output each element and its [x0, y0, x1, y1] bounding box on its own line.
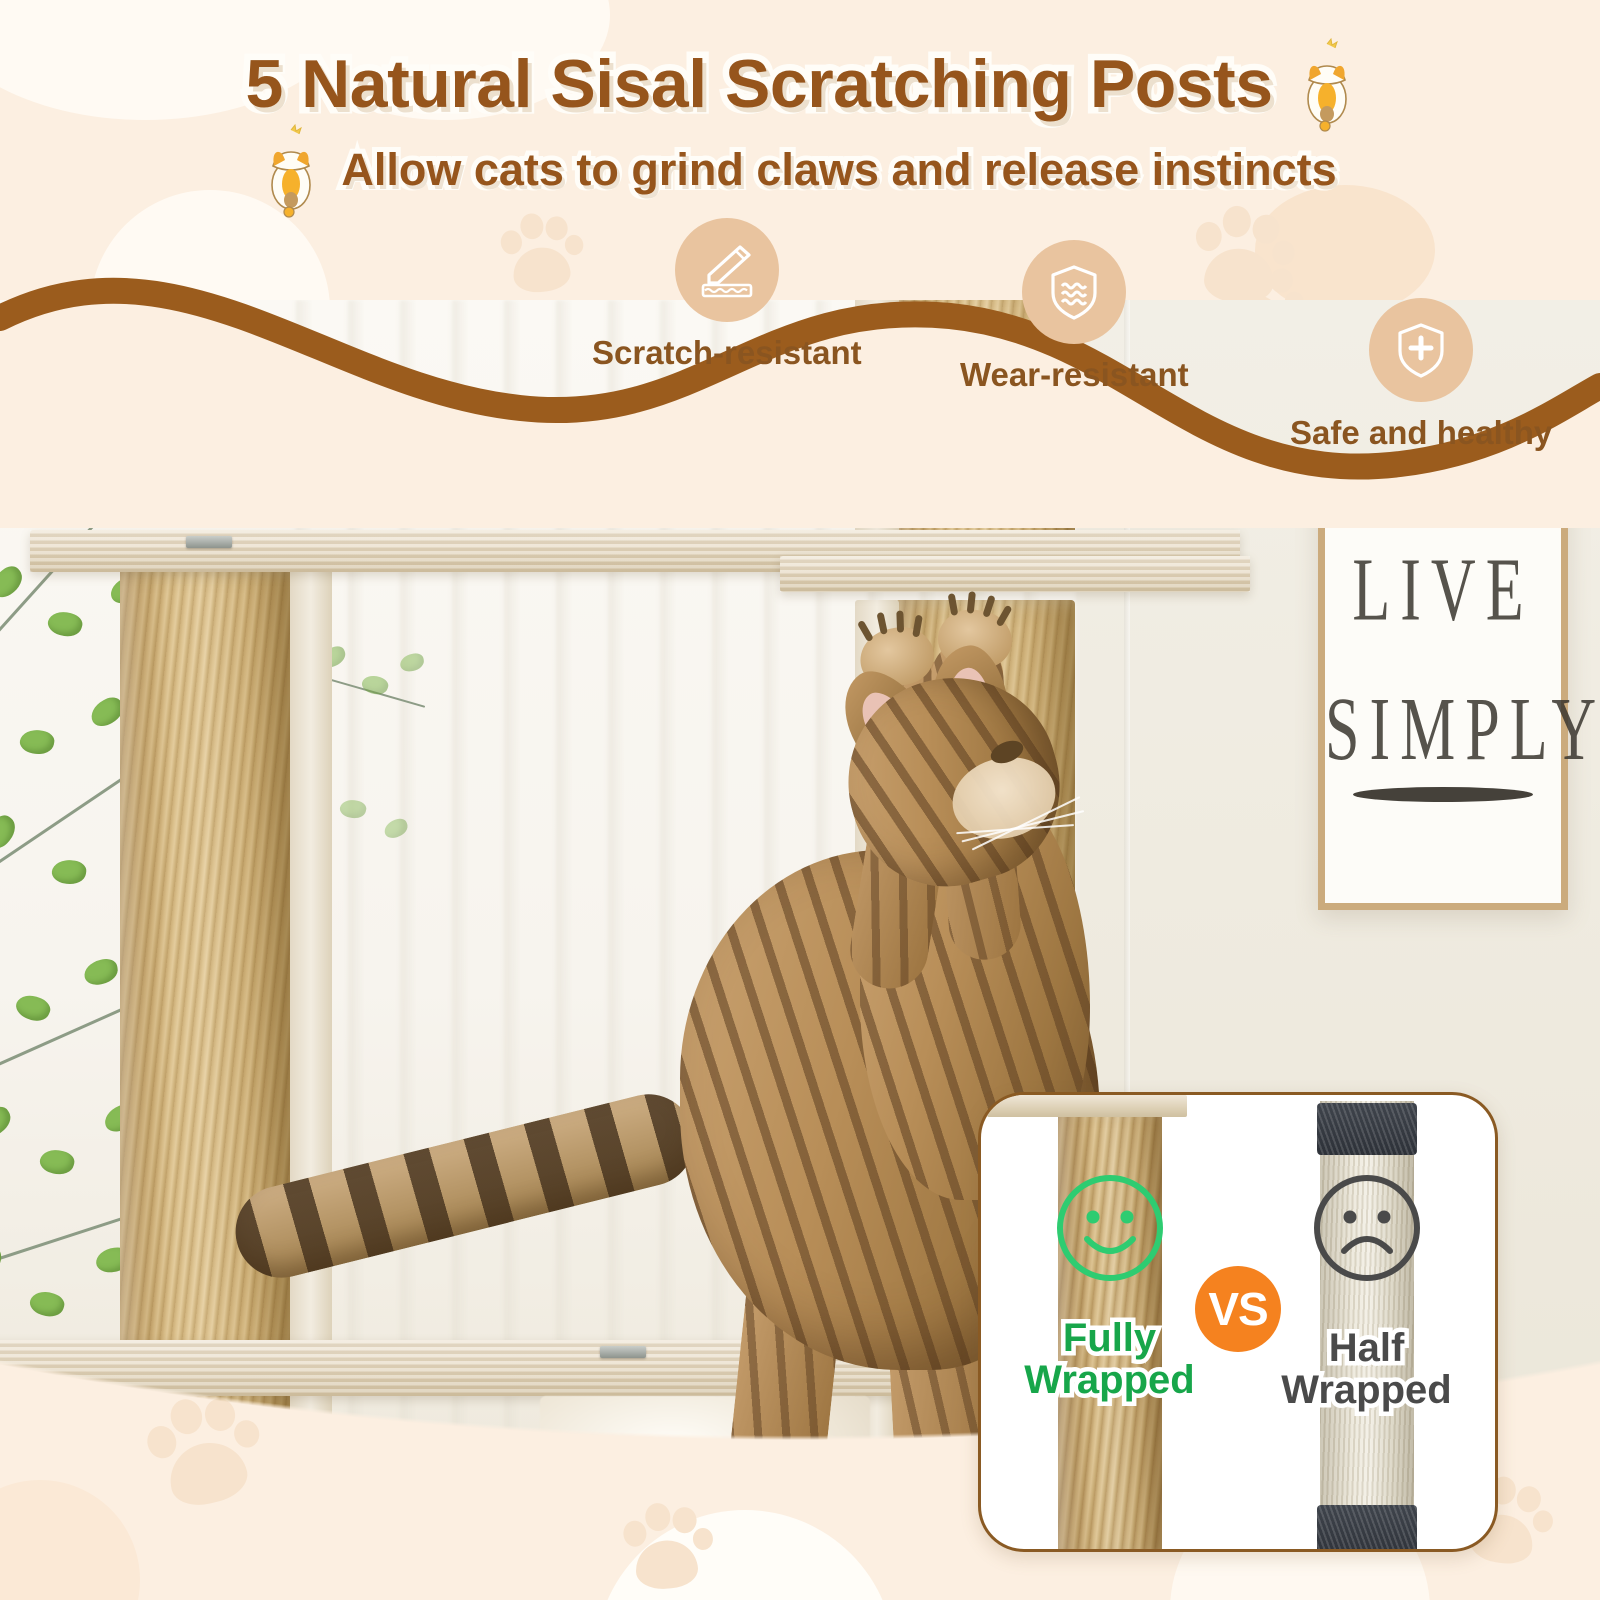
feature-scratch-resistant: Scratch-resistant: [592, 218, 862, 372]
feature-icon-circle: [1369, 298, 1473, 402]
feature-wear-resistant: Wear-resistant: [960, 240, 1189, 394]
cartoon-cat-icon: [263, 122, 319, 218]
wall-art-line-2: SIMPLY: [1325, 660, 1561, 799]
feature-label: Scratch-resistant: [592, 334, 862, 372]
feature-label: Wear-resistant: [960, 356, 1189, 394]
wall-art-frame: LIVE SIMPLY: [1318, 480, 1568, 910]
cartoon-cat-icon: [1299, 36, 1355, 132]
plush-cap-top: [1317, 1103, 1417, 1155]
smiley-face-icon: [1051, 1169, 1169, 1287]
comparison-card: Fully Wrapped Half Wrapped VS: [978, 1092, 1498, 1552]
wall-art-bar: [1353, 787, 1533, 802]
half-wrapped-label: Half Wrapped: [1238, 1327, 1495, 1411]
feature-safe-and-healthy: Safe and healthy: [1290, 298, 1552, 452]
sisal-post-left: [120, 566, 290, 1436]
blade-on-textured-surface-icon: [696, 239, 758, 301]
shelf-hinge: [186, 536, 232, 548]
card-shelf: [987, 1095, 1187, 1117]
page-subtitle: Allow cats to grind claws and release in…: [341, 144, 1336, 196]
shelf-middle: [780, 556, 1250, 592]
feature-icon-circle: [1022, 240, 1126, 344]
feature-icon-circle: [675, 218, 779, 322]
feature-label: Safe and healthy: [1290, 414, 1552, 452]
sad-face-icon: [1308, 1169, 1426, 1287]
page-title: 5 Natural Sisal Scratching Posts: [245, 45, 1272, 123]
shield-with-waves-icon: [1043, 261, 1105, 323]
post-core-left: [290, 566, 332, 1436]
wall-art-line-1: LIVE: [1325, 521, 1561, 660]
background-blob: [0, 1480, 140, 1600]
vs-badge: VS: [1195, 1266, 1281, 1352]
plush-cap-bottom: [1317, 1505, 1417, 1552]
shield-with-plus-icon: [1390, 319, 1452, 381]
